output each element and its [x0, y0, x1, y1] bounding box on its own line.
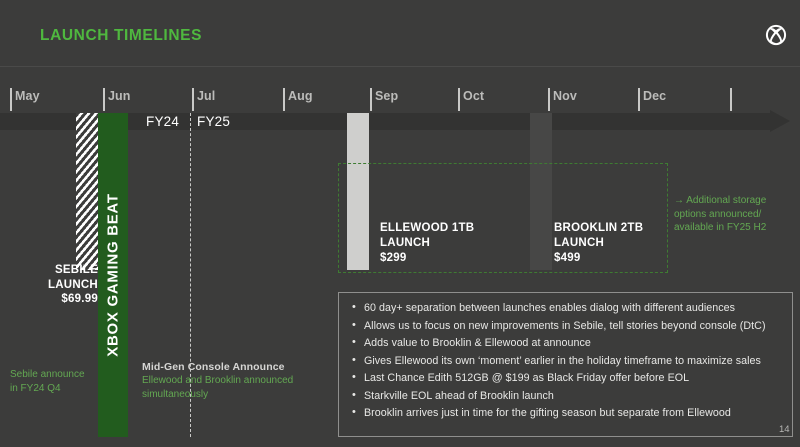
month-tick-oct — [458, 88, 460, 111]
page-number: 14 — [779, 424, 790, 435]
sebile-launch-callout: SEBILE LAUNCH $69.99 — [10, 263, 98, 307]
fiscal-year-label-fy24: FY24 — [146, 114, 179, 129]
month-label-jun: Jun — [108, 89, 131, 103]
brooklin-launch-name: BROOKLIN 2TB LAUNCH — [554, 221, 643, 250]
month-label-jul: Jul — [197, 89, 215, 103]
additional-storage-note: → Additional storage options announced/ … — [674, 194, 789, 235]
brooklin-launch-callout: BROOKLIN 2TB LAUNCH $499 — [554, 221, 643, 266]
midgen-announce-heading: Mid-Gen Console Announce — [142, 360, 317, 374]
slide-canvas: LAUNCH TIMELINES May Jun Jul Aug Sep Oct… — [0, 0, 800, 447]
fiscal-year-label-fy25: FY25 — [197, 114, 230, 129]
list-item: Last Chance Edith 512GB @ $199 as Black … — [351, 371, 780, 386]
month-tick-jun — [103, 88, 105, 111]
list-item: 60 day+ separation between launches enab… — [351, 301, 780, 316]
ellewood-launch-name: ELLEWOOD 1TB LAUNCH — [380, 221, 474, 250]
sebile-launch-price: $69.99 — [10, 292, 98, 307]
rationale-bullet-list: 60 day+ separation between launches enab… — [351, 301, 780, 421]
header-divider — [0, 66, 800, 67]
month-tick-end — [730, 88, 732, 111]
midgen-announce-subtext: Ellewood and Brooklin announced simultan… — [142, 374, 317, 401]
list-item: Adds value to Brooklin & Ellewood at ann… — [351, 336, 780, 351]
month-tick-nov — [548, 88, 550, 111]
list-item: Starkville EOL ahead of Brooklin launch — [351, 389, 780, 404]
list-item: Allows us to focus on new improvements i… — [351, 319, 780, 334]
timeline-arrow-icon — [770, 110, 790, 132]
month-tick-may — [10, 88, 12, 111]
sebile-launch-bar — [76, 113, 98, 270]
month-tick-jul — [192, 88, 194, 111]
midgen-console-announce-note: Mid-Gen Console Announce Ellewood and Br… — [142, 360, 317, 401]
month-label-dec: Dec — [643, 89, 666, 103]
xbox-gaming-beat-band: XBOX GAMING BEAT — [98, 113, 128, 437]
page-title: LAUNCH TIMELINES — [40, 27, 202, 45]
ellewood-launch-callout: ELLEWOOD 1TB LAUNCH $299 — [380, 221, 474, 266]
month-label-sep: Sep — [375, 89, 398, 103]
brooklin-launch-price: $499 — [554, 251, 643, 266]
month-label-may: May — [15, 89, 40, 103]
ellewood-launch-price: $299 — [380, 251, 474, 266]
month-label-oct: Oct — [463, 89, 484, 103]
month-tick-aug — [283, 88, 285, 111]
month-tick-dec — [638, 88, 640, 111]
list-item: Gives Ellewood its own ‘moment’ earlier … — [351, 354, 780, 369]
month-label-aug: Aug — [288, 89, 313, 103]
rationale-box: 60 day+ separation between launches enab… — [338, 292, 793, 437]
month-tick-sep — [370, 88, 372, 111]
list-item: Brooklin arrives just in time for the gi… — [351, 406, 780, 421]
sebile-announce-note: Sebile announce in FY24 Q4 — [10, 368, 90, 395]
xbox-gaming-beat-label: XBOX GAMING BEAT — [105, 193, 122, 356]
xbox-logo-icon — [765, 24, 787, 46]
sebile-launch-name: SEBILE LAUNCH — [10, 263, 98, 292]
month-label-nov: Nov — [553, 89, 577, 103]
